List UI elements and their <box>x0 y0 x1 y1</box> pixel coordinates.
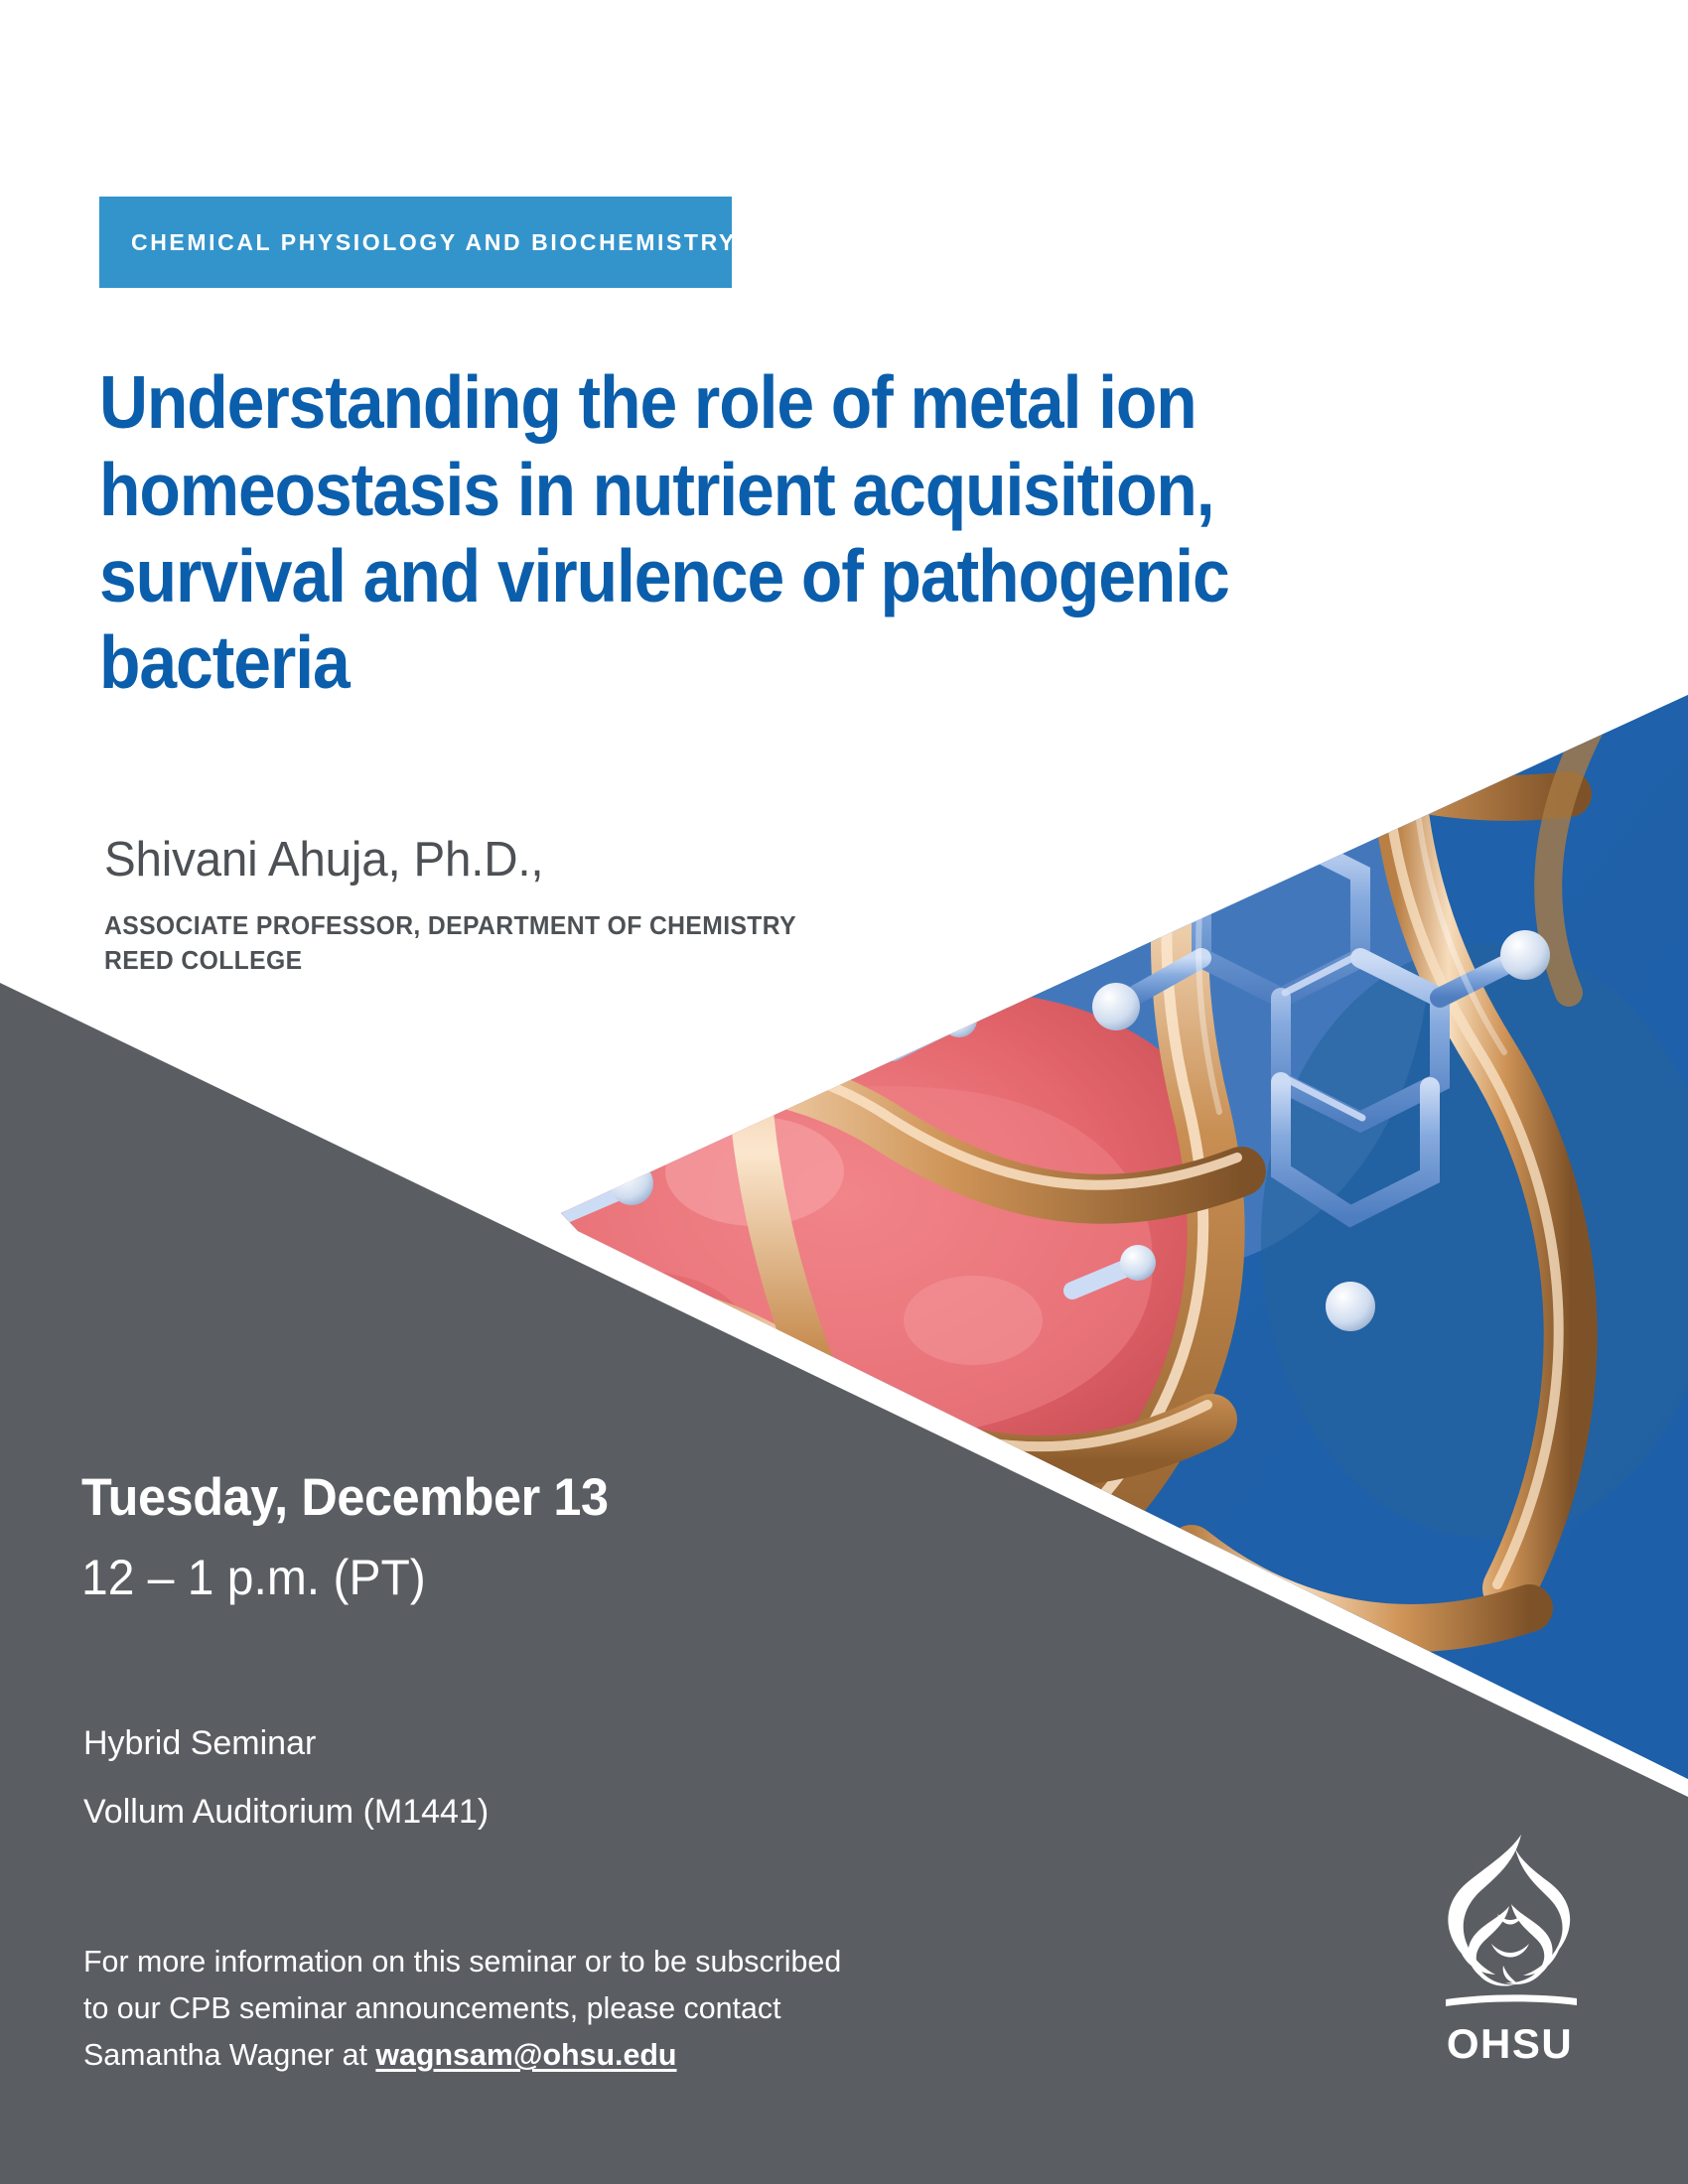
ohsu-logo: OHSU <box>1418 1827 1602 2075</box>
contact-line-1: For more information on this seminar or … <box>83 1938 841 1984</box>
speaker-name: Shivani Ahuja, Ph.D., <box>104 832 543 887</box>
category-banner: CHEMICAL PHYSIOLOGY AND BIOCHEMISTRY <box>99 197 732 288</box>
event-date: Tuesday, December 13 <box>81 1467 609 1528</box>
contact-email-link[interactable]: wagnsam@ohsu.edu <box>375 2037 676 2072</box>
speaker-affiliation-line1: ASSOCIATE PROFESSOR, DEPARTMENT OF CHEMI… <box>104 908 796 943</box>
contact-line-2: to our CPB seminar announcements, please… <box>83 1984 841 2031</box>
category-label: CHEMICAL PHYSIOLOGY AND BIOCHEMISTRY <box>99 229 737 256</box>
contact-info: For more information on this seminar or … <box>83 1938 841 2078</box>
ohsu-flame-icon <box>1418 1827 1602 2015</box>
speaker-affiliation-line2: REED COLLEGE <box>104 943 796 978</box>
page-title: Understanding the role of metal ion home… <box>99 359 1375 707</box>
contact-name-prefix: Samantha Wagner at <box>83 2037 375 2072</box>
event-format: Hybrid Seminar <box>83 1724 316 1763</box>
ohsu-wordmark: OHSU <box>1418 2020 1602 2068</box>
event-time: 12 – 1 p.m. (PT) <box>81 1549 426 1606</box>
event-room: Vollum Auditorium (M1441) <box>83 1793 489 1832</box>
seminar-poster: CHEMICAL PHYSIOLOGY AND BIOCHEMISTRY Und… <box>0 0 1688 2184</box>
speaker-affiliation: ASSOCIATE PROFESSOR, DEPARTMENT OF CHEMI… <box>104 908 796 978</box>
contact-line-3: Samantha Wagner at wagnsam@ohsu.edu <box>83 2031 841 2078</box>
